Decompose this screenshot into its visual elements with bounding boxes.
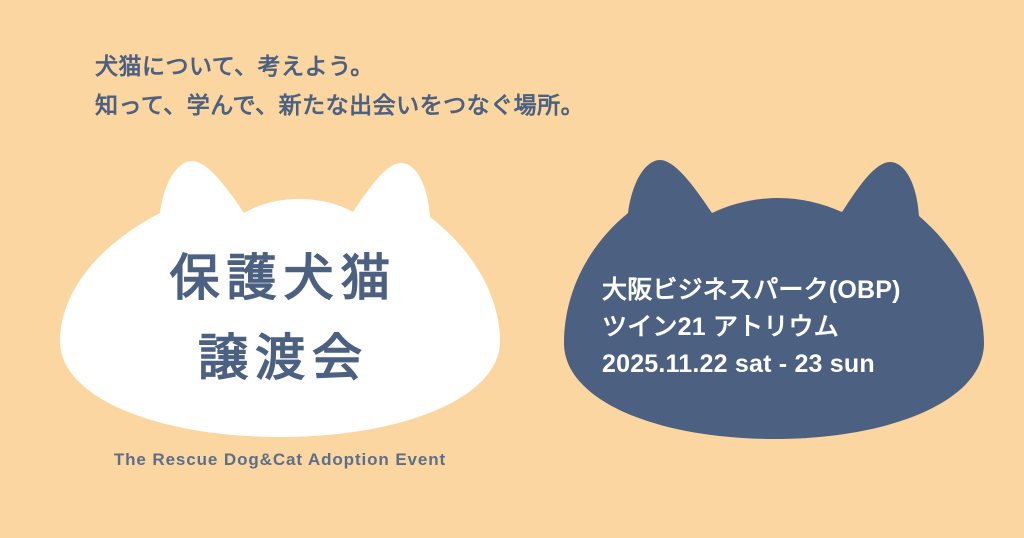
event-title-line-1: 保護犬猫	[56, 238, 504, 318]
poster-canvas: 犬猫について、考えよう。 知って、学んで、新たな出会いをつなぐ場所。 保護犬猫 …	[0, 0, 1024, 538]
headline-line-1: 犬猫について、考えよう。	[95, 47, 584, 86]
headline-line-2: 知って、学んで、新たな出会いをつなぐ場所。	[95, 86, 584, 125]
event-tagline: The Rescue Dog&Cat Adoption Event	[56, 450, 504, 470]
event-title: 保護犬猫 譲渡会	[56, 238, 504, 398]
venue-location: 大阪ビジネスパーク(OBP)	[602, 272, 901, 309]
venue-dates: 2025.11.22 sat - 23 sun	[602, 346, 901, 383]
headline: 犬猫について、考えよう。 知って、学んで、新たな出会いをつなぐ場所。	[95, 47, 584, 125]
venue-details: 大阪ビジネスパーク(OBP) ツイン21 アトリウム 2025.11.22 sa…	[602, 272, 901, 383]
venue-hall: ツイン21 アトリウム	[602, 309, 901, 346]
event-title-line-2: 譲渡会	[56, 318, 504, 398]
